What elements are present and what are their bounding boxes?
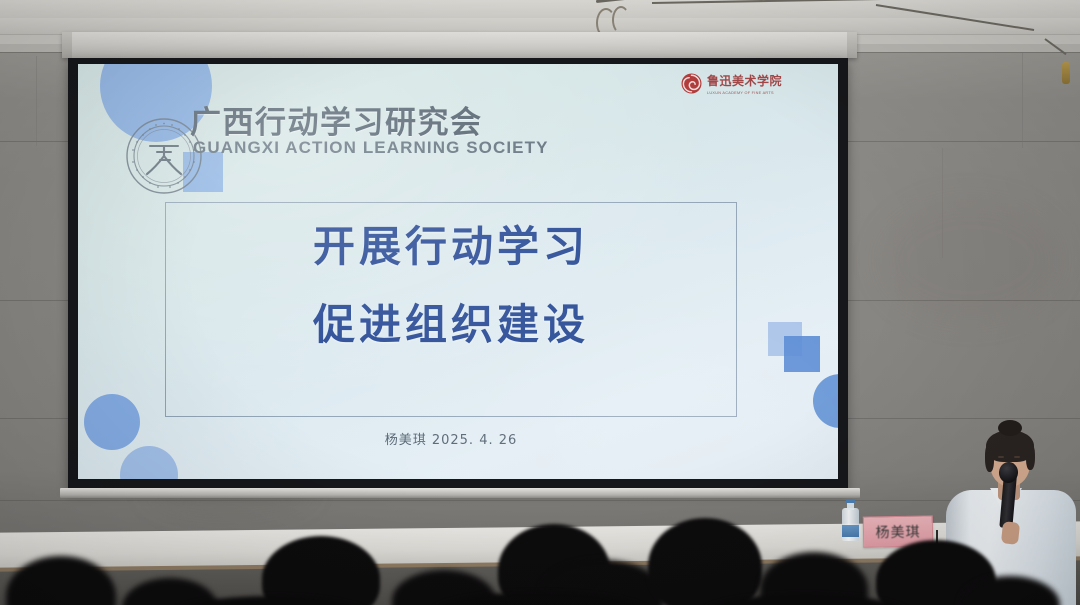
headline-line-1: 开展行动学习 — [165, 226, 737, 268]
wall-block-line — [1022, 52, 1023, 148]
deco-square-right-dark — [784, 336, 820, 372]
projector-screen-casing — [62, 32, 857, 58]
institution-swirl-icon — [681, 73, 702, 94]
presentation-slide: 广西行动学习研究会 GUANGXI ACTION LEARNING SOCIET… — [78, 64, 838, 479]
slide-byline: 杨美琪 2025. 4. 26 — [165, 429, 737, 448]
wall-block-line — [36, 56, 37, 146]
slide-org-title-cn: 广西行动学习研究会 — [190, 97, 483, 142]
water-bottle — [842, 499, 859, 541]
casing-endcap-right — [847, 32, 857, 58]
name-placard-text: 杨美琪 — [875, 521, 920, 542]
presenter-hand — [1001, 521, 1020, 545]
cable-plug — [1062, 62, 1070, 84]
bottle-label — [842, 525, 859, 537]
wall-stain — [880, 200, 1060, 320]
presenter-eye-left — [998, 456, 1004, 458]
institution-name-cn: 鲁迅美术学院 — [707, 72, 782, 89]
institution-logo: 鲁迅美术学院 LUXUN ACADEMY OF FINE ARTS — [681, 68, 836, 98]
slide-headline: 开展行动学习 促进组织建设 — [165, 226, 737, 346]
audience-head — [648, 518, 762, 605]
deco-circle-right-edge — [813, 374, 838, 428]
institution-text: 鲁迅美术学院 LUXUN ACADEMY OF FINE ARTS — [707, 72, 782, 95]
deco-circle-bottom-left-upper — [84, 394, 140, 450]
ceiling-slab-upper — [0, 0, 1080, 18]
presenter-hair-bun — [998, 420, 1022, 436]
screen-bottom-weight-bar — [60, 488, 860, 498]
presenter-hair-side-right — [1026, 444, 1035, 470]
bottle-cap — [846, 499, 855, 503]
presenter-hair-side-left — [985, 444, 994, 472]
institution-name-en: LUXUN ACADEMY OF FINE ARTS — [707, 90, 778, 95]
ceiling-hook — [612, 6, 630, 34]
presenter-eye-right — [1014, 456, 1020, 458]
screenshot-root: 广西行动学习研究会 GUANGXI ACTION LEARNING SOCIET… — [0, 0, 1080, 605]
deco-circle-bottom-left-lower — [120, 446, 178, 479]
casing-endcap-left — [62, 32, 72, 58]
headline-line-2: 促进组织建设 — [165, 304, 737, 346]
slide-org-title-en: GUANGXI ACTION LEARNING SOCIETY — [193, 138, 549, 158]
projection-screen: 广西行动学习研究会 GUANGXI ACTION LEARNING SOCIET… — [68, 58, 848, 490]
